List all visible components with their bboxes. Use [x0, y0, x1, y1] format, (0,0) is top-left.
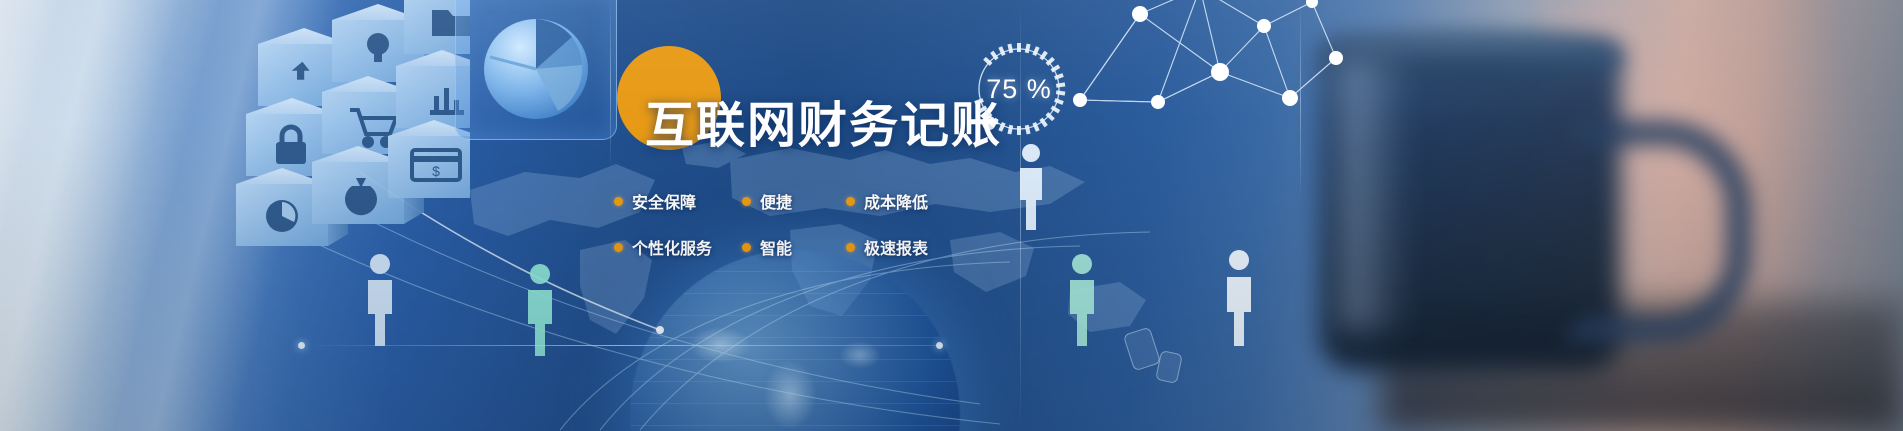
person-silhouette-1	[360, 252, 400, 348]
horizontal-connector-line	[300, 345, 940, 346]
feature-label: 成本降低	[864, 189, 928, 213]
feature-item: 智能	[742, 235, 846, 259]
network-node-graph	[1050, 0, 1350, 200]
person-silhouette-3	[1012, 142, 1050, 232]
bullet-dot-icon	[846, 197, 855, 206]
page-title: 互联网财务记账	[645, 102, 1002, 151]
person-silhouette-4	[1062, 252, 1102, 348]
feature-item: 便捷	[742, 189, 846, 213]
promotional-banner: $ 互联网财务记账	[0, 0, 1903, 431]
bullet-dot-icon	[614, 197, 623, 206]
person-silhouette-5	[1218, 248, 1260, 348]
feature-label: 极速报表	[864, 235, 928, 259]
icon-cube-cluster: $	[150, 0, 470, 250]
connector-node	[936, 342, 943, 349]
bullet-dot-icon	[742, 243, 751, 252]
person-silhouette-2	[520, 262, 560, 358]
feature-label: 智能	[760, 235, 792, 259]
feature-label: 个性化服务	[632, 235, 712, 259]
feature-item: 极速报表	[846, 235, 964, 259]
feature-item: 成本降低	[846, 189, 964, 213]
feature-item: 个性化服务	[614, 235, 742, 259]
feature-label: 安全保障	[632, 189, 696, 213]
svg-text:$: $	[432, 163, 440, 179]
feature-label: 便捷	[760, 189, 792, 213]
feature-list: 安全保障 便捷 成本降低 个性化服务 智能 极速报表	[614, 178, 994, 270]
feature-item: 安全保障	[614, 189, 742, 213]
bullet-dot-icon	[846, 243, 855, 252]
bullet-dot-icon	[614, 243, 623, 252]
vertical-divider	[1300, 0, 1301, 200]
pie-chart-panel	[455, 0, 617, 140]
vertical-divider	[610, 0, 611, 170]
connector-node	[298, 342, 305, 349]
bullet-dot-icon	[742, 197, 751, 206]
